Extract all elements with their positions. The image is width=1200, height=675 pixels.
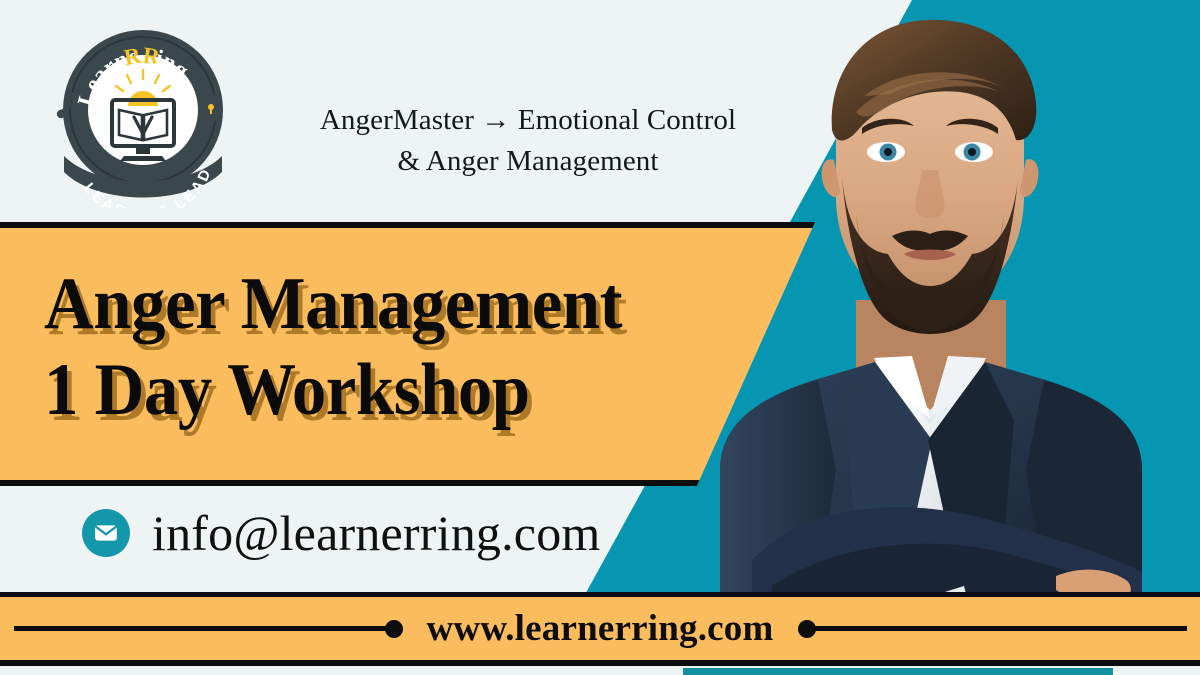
footer-dot-right xyxy=(798,620,816,638)
brand-logo: Learne RR ing xyxy=(48,22,238,208)
headline-line-1: Anger Management xyxy=(44,265,710,345)
bottom-teal-accent xyxy=(683,668,1113,675)
headline-line-2: 1 Day Workshop xyxy=(44,351,710,431)
tagline-line-2: & Anger Management xyxy=(268,141,788,182)
footer-bar: www.learnerring.com xyxy=(0,592,1200,666)
website-url: www.learnerring.com xyxy=(399,607,802,650)
headline: Anger Management 1 Day Workshop xyxy=(0,228,760,468)
promo-banner: Learne RR ing xyxy=(0,0,1200,675)
email-address: info@learnerring.com xyxy=(152,504,600,562)
envelope-icon xyxy=(82,509,130,557)
footer-dot-left xyxy=(385,620,403,638)
tagline: AngerMaster → Emotional Control & Anger … xyxy=(268,100,788,182)
tagline-line-1: AngerMaster → Emotional Control xyxy=(320,104,736,136)
email-row: info@learnerring.com xyxy=(0,474,700,592)
footer-rule-left xyxy=(14,626,399,631)
footer-rule-right xyxy=(802,626,1187,631)
